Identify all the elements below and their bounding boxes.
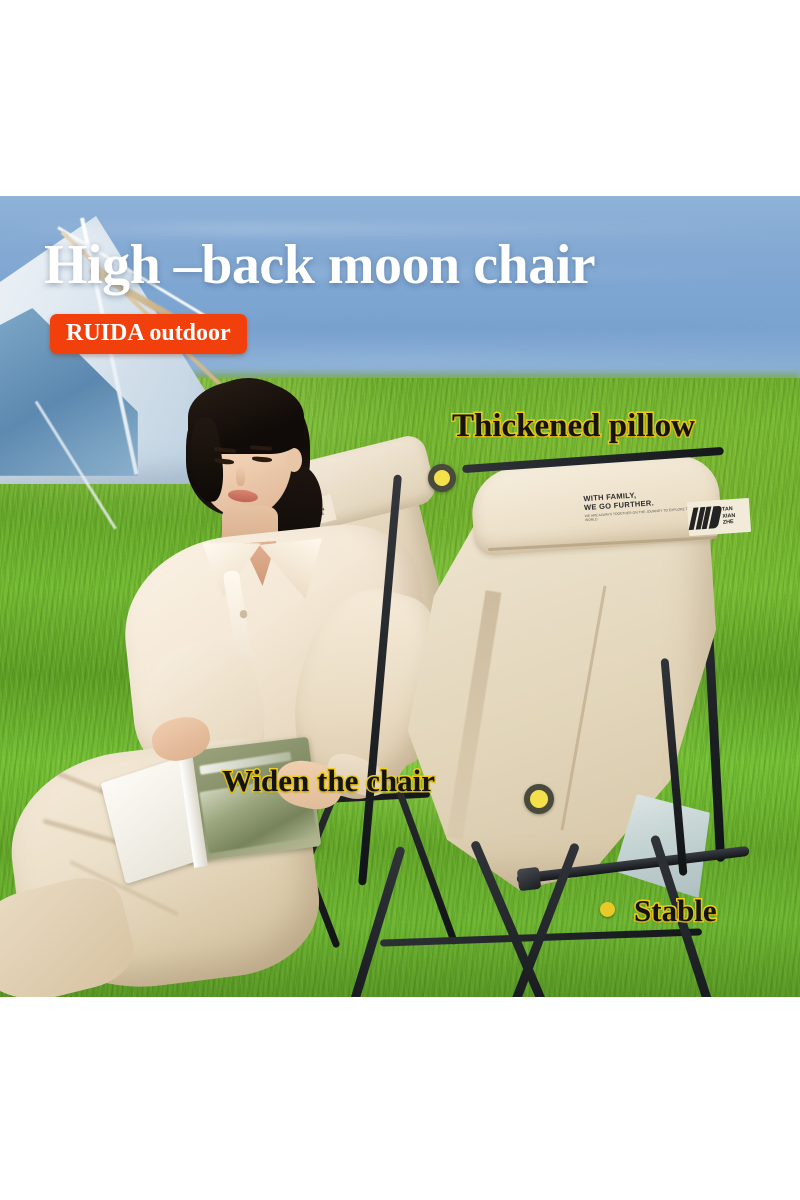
marker-dot-widen-the-chair [524,784,554,814]
shirt-button [240,610,247,617]
chair-brand-text: TAN XIAN ZHE [722,506,736,526]
nose [236,466,245,486]
product-marketing-image: TAN XIAN ZHE [0,0,800,1200]
annotation-widen-the-chair: Widen the chair [222,762,435,800]
page-title: High –back moon chair [44,236,595,294]
chair-frame-hub [517,867,542,892]
marker-dot-thickened-pillow [428,464,456,492]
bottom-white-band [0,997,800,1200]
logo-bars-icon [690,506,720,530]
hero-moon-chair: WITH FAMILY, WE GO FURTHER. WE ARE ALWAY… [370,464,800,997]
ear [286,448,302,472]
annotation-stable: Stable [634,892,717,930]
chair-brand-logo: TAN XIAN ZHE [687,498,751,536]
marker-dot-stable [600,902,615,917]
brand-line-3: ZHE [723,519,734,526]
brand-badge: RUIDA outdoor [50,314,247,354]
top-white-band [0,0,800,196]
annotation-thickened-pillow: Thickened pillow [452,406,695,446]
